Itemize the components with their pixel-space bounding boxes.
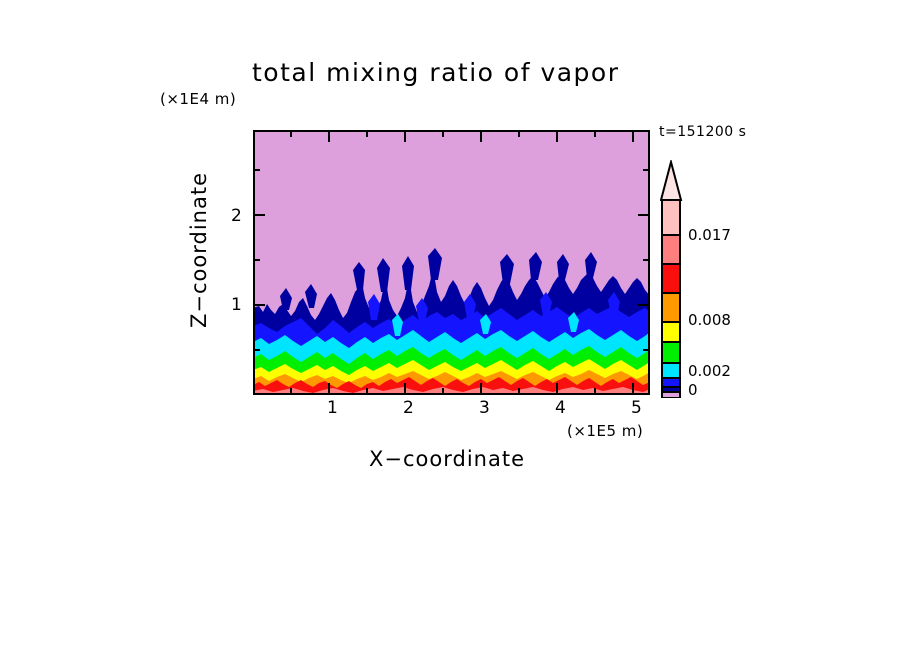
contour-field — [253, 130, 650, 395]
colorbar-band-green — [662, 342, 680, 363]
colorbar-label-0017: 0.017 — [688, 226, 731, 244]
time-annotation: t=151200 s — [659, 124, 746, 140]
x-tick-label-3: 3 — [479, 398, 490, 418]
x-tick-label-2: 2 — [403, 398, 414, 418]
y-tick-label-2: 2 — [231, 206, 242, 226]
colorbar-arrow-tip — [661, 162, 681, 200]
colorbar-band-red — [662, 264, 680, 293]
colorbar-band-salmon — [662, 235, 680, 264]
x-axis-unit-label: (×1E5 m) — [567, 422, 643, 440]
colorbar-band-yellow — [662, 322, 680, 342]
colorbar-svg[interactable] — [660, 160, 690, 398]
figure-canvas: total mixing ratio of vapor (×1E4 m) t=1… — [0, 0, 904, 654]
colorbar-band-pink — [662, 200, 680, 235]
colorbar-label-0002: 0.002 — [688, 362, 731, 380]
colorbar-band-plum — [662, 392, 680, 398]
colorbar-bands — [662, 200, 680, 398]
colorbar-label-0: 0 — [688, 381, 698, 399]
x-tick-label-5: 5 — [631, 398, 642, 418]
x-axis-title: X−coordinate — [369, 447, 525, 471]
y-axis-title: Z−coordinate — [187, 160, 211, 340]
y-axis-unit-label: (×1E4 m) — [160, 90, 236, 108]
colorbar-band-cyan — [662, 363, 680, 378]
colorbar-band-blue — [662, 378, 680, 387]
colorbar[interactable] — [660, 160, 690, 398]
contour-plot — [253, 130, 650, 395]
colorbar-label-0008: 0.008 — [688, 311, 731, 329]
x-tick-label-4: 4 — [555, 398, 566, 418]
y-tick-label-1: 1 — [231, 295, 242, 315]
colorbar-band-orange — [662, 293, 680, 322]
x-tick-label-1: 1 — [327, 398, 338, 418]
page-title: total mixing ratio of vapor — [252, 58, 620, 87]
contour-layers — [253, 130, 650, 395]
